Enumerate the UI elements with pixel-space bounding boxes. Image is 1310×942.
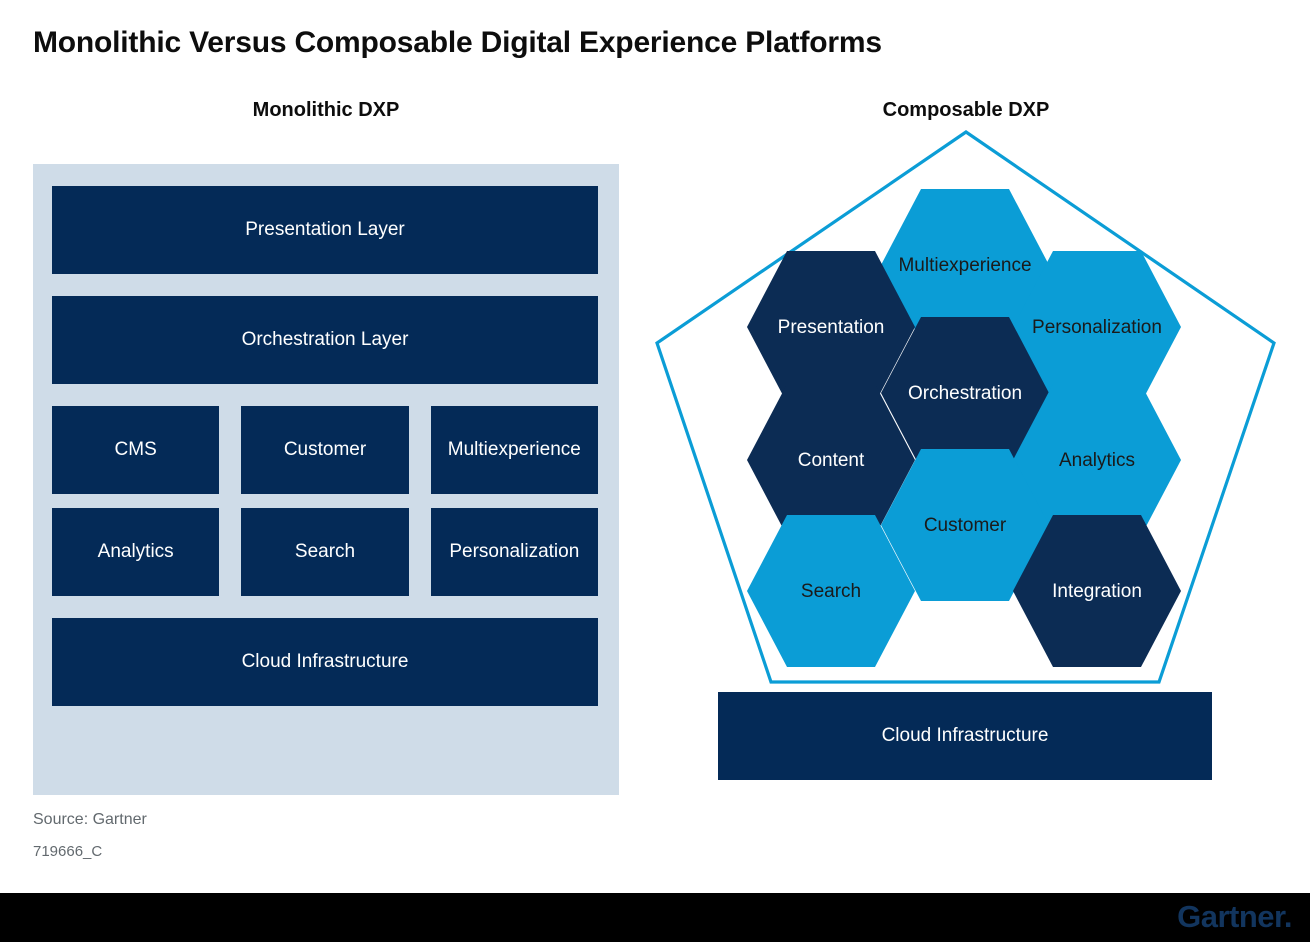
hex-label-content: Content — [798, 450, 865, 471]
mono-cell-search[interactable]: Search — [241, 508, 408, 596]
monolithic-stack: Presentation Layer Orchestration Layer C… — [52, 186, 598, 706]
mono-cell-analytics[interactable]: Analytics — [52, 508, 219, 596]
mono-cell-customer[interactable]: Customer — [241, 406, 408, 494]
hex-content[interactable]: Content — [747, 384, 915, 536]
pentagon-outline — [657, 132, 1274, 682]
gartner-logo-text: Gartner — [1177, 899, 1284, 934]
spacer — [52, 384, 598, 406]
hex-search[interactable]: Search — [747, 515, 915, 667]
footer-bar — [0, 893, 1310, 942]
hex-label-integration: Integration — [1052, 581, 1142, 602]
hex-label-presentation: Presentation — [778, 317, 885, 338]
spacer — [52, 274, 598, 296]
hex-label-search: Search — [801, 581, 861, 602]
mono-cell-multiexperience[interactable]: Multiexperience — [431, 406, 598, 494]
hex-label-analytics: Analytics — [1059, 450, 1135, 471]
monolithic-dxp-panel: Presentation Layer Orchestration Layer C… — [33, 164, 619, 795]
monolithic-column-heading: Monolithic DXP — [33, 99, 619, 122]
mono-row-services-2: Analytics Search Personalization — [52, 508, 598, 596]
hex-label-personalization: Personalization — [1032, 317, 1162, 338]
hex-customer[interactable]: Customer — [881, 449, 1049, 601]
composable-column-heading: Composable DXP — [660, 99, 1272, 122]
source-note: Source: Gartner — [33, 811, 147, 829]
mono-layer-orchestration[interactable]: Orchestration Layer — [52, 296, 598, 384]
hex-orchestration[interactable]: Orchestration — [881, 317, 1049, 469]
mono-cell-personalization[interactable]: Personalization — [431, 508, 598, 596]
hex-presentation[interactable]: Presentation — [747, 251, 915, 403]
mono-row-services-1: CMS Customer Multiexperience — [52, 406, 598, 494]
mono-cell-cms[interactable]: CMS — [52, 406, 219, 494]
gartner-logo-dot: . — [1284, 899, 1292, 934]
hex-integration[interactable]: Integration — [1013, 515, 1181, 667]
hex-personalization[interactable]: Personalization — [1013, 251, 1181, 403]
composable-cloud-infrastructure[interactable]: Cloud Infrastructure — [718, 692, 1212, 780]
spacer — [52, 494, 598, 508]
gartner-logo: Gartner. — [1177, 901, 1292, 932]
mono-layer-presentation[interactable]: Presentation Layer — [52, 186, 598, 274]
page-title: Monolithic Versus Composable Digital Exp… — [33, 26, 882, 60]
hex-label-orchestration: Orchestration — [908, 383, 1022, 404]
hex-analytics[interactable]: Analytics — [1013, 384, 1181, 536]
spacer — [52, 596, 598, 618]
mono-layer-cloud-infrastructure[interactable]: Cloud Infrastructure — [52, 618, 598, 706]
hex-label-customer: Customer — [924, 515, 1007, 536]
infographic-root: Monolithic Versus Composable Digital Exp… — [0, 0, 1310, 942]
document-id: 719666_C — [33, 843, 102, 860]
hex-multiexperience[interactable]: Multiexperience — [881, 189, 1049, 341]
hex-label-multiexperience: Multiexperience — [898, 255, 1031, 276]
